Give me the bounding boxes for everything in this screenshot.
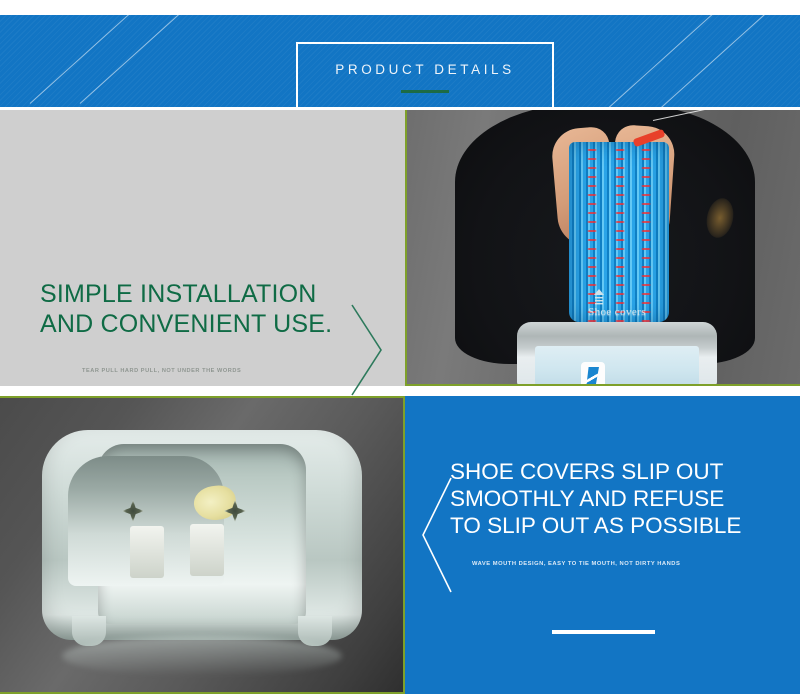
device-block-right	[190, 524, 224, 576]
dispenser-sticker	[581, 362, 605, 386]
bottom-right-accent-rule	[552, 630, 655, 634]
dispenser-device	[42, 430, 362, 658]
dispenser-front-panel	[535, 346, 699, 386]
blue-shoe-cover-stack	[569, 142, 669, 322]
dispenser-brand-icon	[592, 288, 606, 306]
photo-dispenser-interior	[0, 396, 405, 694]
bottom-right-heading-line2: SMOOTHLY AND REFUSE	[450, 485, 790, 512]
top-left-heading-line2: AND CONVENIENT USE.	[40, 310, 370, 340]
content-row-top: SIMPLE INSTALLATION AND CONVENIENT USE. …	[0, 110, 800, 386]
device-block-left	[130, 526, 164, 578]
dispenser-label: Shoe covers	[535, 306, 699, 318]
content-row-bottom: SHOE COVERS SLIP OUT SMOOTHLY AND REFUSE…	[0, 396, 800, 694]
panel-shoe-covers-slip-out: SHOE COVERS SLIP OUT SMOOTHLY AND REFUSE…	[405, 396, 800, 694]
top-left-heading-line1: SIMPLE INSTALLATION	[40, 280, 370, 310]
photo-shoe-cover-dispensing: Shoe covers	[405, 110, 800, 386]
bottom-right-subtitle: WAVE MOUTH DESIGN, EASY TO TIE MOUTH, NO…	[472, 561, 680, 567]
top-left-heading: SIMPLE INSTALLATION AND CONVENIENT USE.	[40, 280, 370, 339]
banner-accent-rule	[401, 90, 449, 93]
top-left-subtitle: TEAR PULL HARD PULL, NOT UNDER THE WORDS	[82, 368, 382, 374]
banner-title-box: PRODUCT DETAILS	[296, 42, 554, 107]
bottom-right-heading: SHOE COVERS SLIP OUT SMOOTHLY AND REFUSE…	[450, 458, 790, 539]
panel-simple-installation: SIMPLE INSTALLATION AND CONVENIENT USE. …	[0, 110, 405, 386]
device-reflection	[62, 636, 342, 676]
chevron-left-icon	[421, 476, 453, 594]
bottom-right-heading-line1: SHOE COVERS SLIP OUT	[450, 458, 790, 485]
page-title: PRODUCT DETAILS	[335, 62, 515, 77]
shoe-cover-perforations	[569, 142, 669, 322]
page-header-banner: PRODUCT DETAILS	[0, 15, 800, 107]
bottom-right-heading-line3: TO SLIP OUT AS POSSIBLE	[450, 512, 790, 539]
chevron-right-icon	[350, 303, 384, 397]
